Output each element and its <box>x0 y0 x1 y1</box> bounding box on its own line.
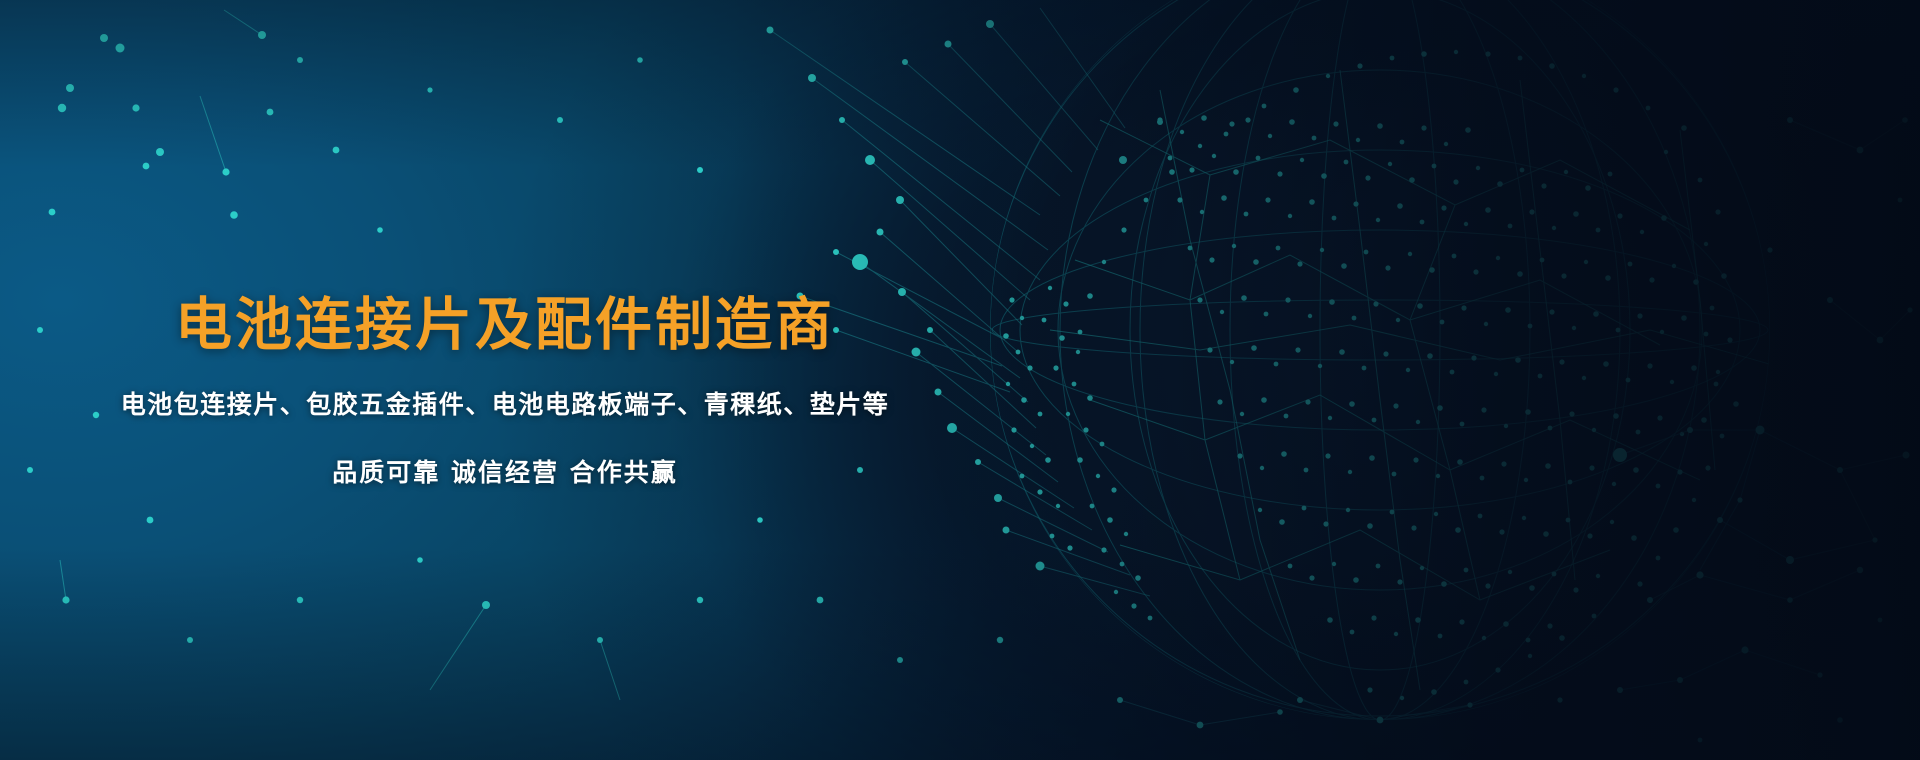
banner-subline: 电池包连接片、包胶五金插件、电池电路板端子、青稞纸、垫片等 <box>121 390 890 420</box>
hero-banner: 电池连接片及配件制造商 电池包连接片、包胶五金插件、电池电路板端子、青稞纸、垫片… <box>0 0 1920 760</box>
banner-headline: 电池连接片及配件制造商 <box>175 294 835 357</box>
banner-text-block: 电池连接片及配件制造商 电池包连接片、包胶五金插件、电池电路板端子、青稞纸、垫片… <box>0 0 1010 760</box>
banner-tagline: 品质可靠 诚信经营 合作共赢 <box>332 458 677 488</box>
